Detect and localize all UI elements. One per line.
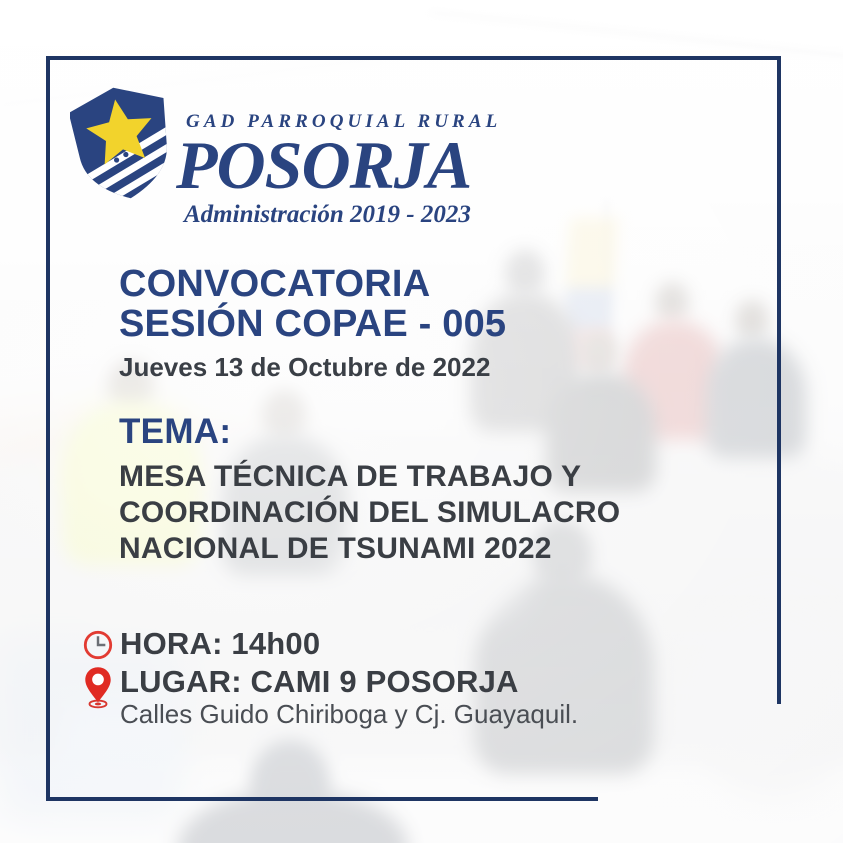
clock-icon bbox=[76, 626, 120, 661]
map-pin-icon bbox=[76, 664, 120, 709]
logo-wordmark: POSORJA bbox=[176, 134, 476, 196]
logo-administration: Administración 2019 - 2023 bbox=[184, 201, 476, 229]
frame-border-top bbox=[46, 56, 781, 60]
shield-star-icon bbox=[70, 85, 174, 201]
frame-border-left bbox=[46, 56, 50, 801]
headline-block: CONVOCATORIA SESIÓN COPAE - 005 Jueves 1… bbox=[119, 264, 739, 384]
event-place-text: LUGAR: CAMI 9 POSORJA bbox=[120, 664, 716, 700]
event-time-text: HORA: 14h00 bbox=[120, 626, 320, 662]
topic-label: TEMA: bbox=[119, 412, 779, 452]
frame-border-right bbox=[777, 56, 781, 704]
event-place-row: LUGAR: CAMI 9 POSORJA Calles Guido Chiri… bbox=[76, 664, 716, 731]
topic-line-3: NACIONAL DE TSUNAMI 2022 bbox=[119, 531, 779, 567]
headline-date: Jueves 13 de Octubre de 2022 bbox=[119, 350, 739, 384]
event-place-address: Calles Guido Chiriboga y Cj. Guayaquil. bbox=[120, 698, 716, 731]
organization-logo: GAD PARROQUIAL RURAL POSORJA Administrac… bbox=[70, 85, 470, 235]
frame-border-bottom bbox=[46, 797, 598, 801]
poster-canvas: GAD PARROQUIAL RURAL POSORJA Administrac… bbox=[0, 0, 843, 843]
topic-line-2: COORDINACIÓN DEL SIMULACRO bbox=[119, 495, 779, 531]
topic-line-1: MESA TÉCNICA DE TRABAJO Y bbox=[119, 459, 779, 495]
event-details-block: HORA: 14h00 LUGAR: CAMI 9 POSORJA Calles… bbox=[76, 626, 716, 731]
headline-line-2: SESIÓN COPAE - 005 bbox=[119, 304, 739, 344]
topic-block: TEMA: MESA TÉCNICA DE TRABAJO Y COORDINA… bbox=[119, 412, 779, 567]
event-time-row: HORA: 14h00 bbox=[76, 626, 716, 662]
headline-line-1: CONVOCATORIA bbox=[119, 264, 739, 304]
